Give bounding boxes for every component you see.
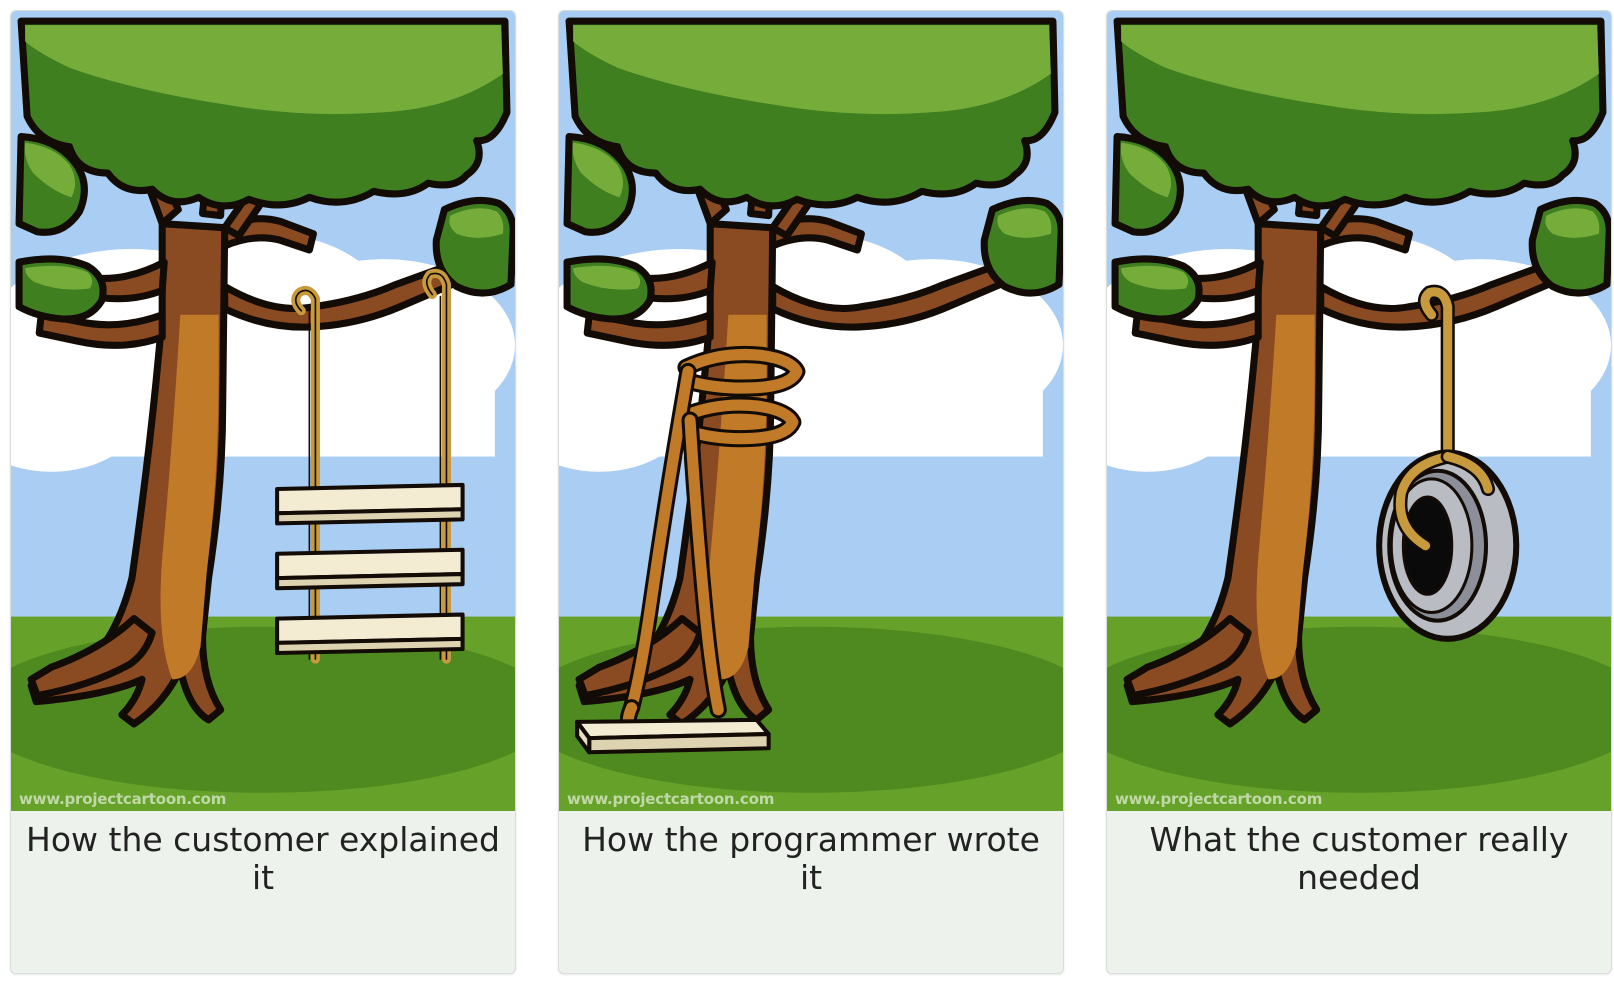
- panel-caption-1: How the customer explained it: [11, 811, 515, 973]
- comic-strip-page: www.projectcartoon.com How the customer …: [0, 0, 1614, 1000]
- ground-plank: [577, 720, 769, 752]
- panel-caption-3: What the customer really needed: [1107, 811, 1611, 973]
- panel-illustration-2: www.projectcartoon.com: [559, 11, 1063, 811]
- panel-illustration-1: www.projectcartoon.com: [11, 11, 515, 811]
- scene-svg-3: [1107, 11, 1611, 811]
- panel-caption-2: How the programmer wrote it: [559, 811, 1063, 973]
- leaf-right-hl: [997, 208, 1051, 238]
- scene-svg-2: [559, 11, 1063, 811]
- comic-panel-card-1[interactable]: www.projectcartoon.com How the customer …: [10, 10, 516, 974]
- panel-illustration-3: www.projectcartoon.com: [1107, 11, 1611, 811]
- plank-bottom: [277, 615, 462, 653]
- scene-svg-1: [11, 11, 515, 811]
- comic-panel-card-2[interactable]: www.projectcartoon.com How the programme…: [558, 10, 1064, 974]
- leaf-right-hl: [449, 208, 503, 238]
- plank-top: [277, 485, 462, 523]
- comic-panel-card-3[interactable]: www.projectcartoon.com What the customer…: [1106, 10, 1612, 974]
- panel-row: www.projectcartoon.com How the customer …: [10, 10, 1612, 974]
- plank-middle: [277, 550, 462, 588]
- leaf-right-hl: [1545, 208, 1599, 238]
